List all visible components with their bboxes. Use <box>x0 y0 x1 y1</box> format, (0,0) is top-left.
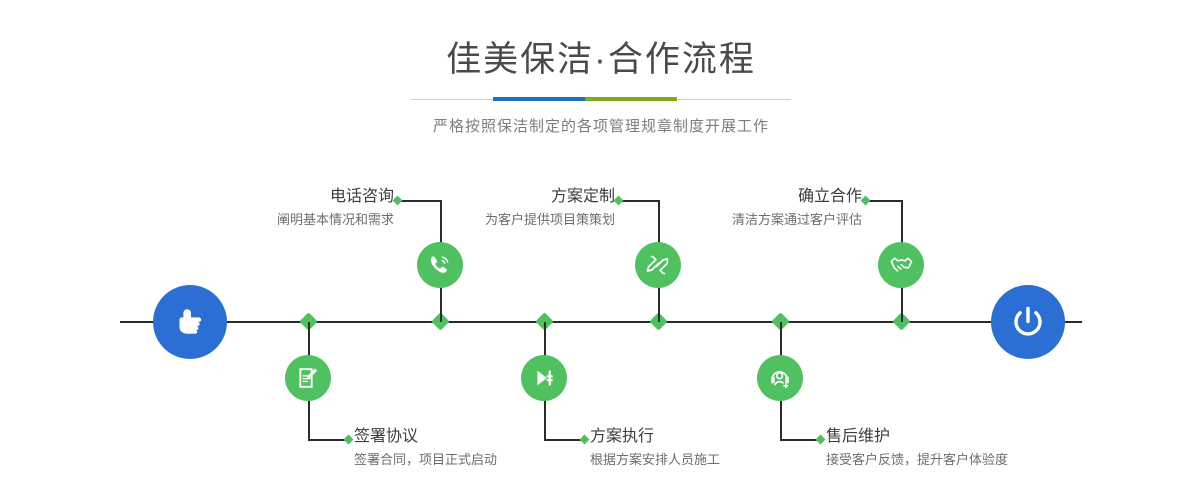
flow-step-icon-6[interactable] <box>757 355 803 401</box>
flow-step-label-6: 售后维护 接受客户反馈，提升客户体验度 <box>826 426 1086 470</box>
flow-step-label-3: 方案定制 为客户提供项目策策划 <box>375 186 615 230</box>
flow-step-icon-1[interactable] <box>417 242 463 288</box>
power-icon <box>1007 301 1049 343</box>
divider-segment-blue <box>493 97 585 101</box>
connector-elbow-step-4 <box>544 439 584 441</box>
flow-step-desc-2: 签署合同，项目正式启动 <box>354 450 604 470</box>
document-sign-icon <box>295 365 321 391</box>
connector-elbow-step-6 <box>780 439 820 441</box>
flow-step-desc-5: 清洁方案通过客户评估 <box>622 210 862 230</box>
flow-step-title-6: 售后维护 <box>826 426 1086 448</box>
flow-end-node[interactable] <box>991 285 1065 359</box>
page-header: 佳美保洁·合作流程 严格按照保洁制定的各项管理规章制度开展工作 <box>0 0 1202 136</box>
flow-diagram-page: 佳美保洁·合作流程 严格按照保洁制定的各项管理规章制度开展工作 <box>0 0 1202 502</box>
page-title: 佳美保洁·合作流程 <box>0 38 1202 82</box>
handshake-icon <box>888 252 915 279</box>
divider-segment-green <box>585 97 677 101</box>
title-divider <box>411 94 791 106</box>
flow-step-icon-5[interactable] <box>878 242 924 288</box>
flow-step-desc-3: 为客户提供项目策策划 <box>375 210 615 230</box>
flow-step-icon-4[interactable] <box>521 355 567 401</box>
label-marker-step-5 <box>861 196 871 206</box>
flow-step-desc-4: 根据方案安排人员施工 <box>590 450 840 470</box>
flow-step-label-2: 签署协议 签署合同，项目正式启动 <box>354 426 604 470</box>
connector-elbow-riser-step-5 <box>901 200 903 214</box>
flow-step-desc-1: 阐明基本情况和需求 <box>150 210 394 230</box>
connector-elbow-step-5 <box>866 200 903 202</box>
label-marker-step-2 <box>344 435 354 445</box>
flow-step-title-5: 确立合作 <box>622 186 862 208</box>
flow-step-title-4: 方案执行 <box>590 426 840 448</box>
page-subtitle: 严格按照保洁制定的各项管理规章制度开展工作 <box>0 115 1202 136</box>
flow-step-icon-2[interactable] <box>285 355 331 401</box>
flow-step-title-2: 签署协议 <box>354 426 604 448</box>
flow-step-label-1: 电话咨询 阐明基本情况和需求 <box>150 186 394 230</box>
customer-service-add-icon <box>767 365 793 391</box>
flow-step-title-3: 方案定制 <box>375 186 615 208</box>
flow-step-label-5: 确立合作 清洁方案通过客户评估 <box>622 186 862 230</box>
pencil-ruler-icon <box>645 252 671 278</box>
connector-elbow-step-2 <box>308 439 348 441</box>
pointing-hand-icon <box>170 302 210 342</box>
phone-call-icon <box>427 252 453 278</box>
flow-step-desc-6: 接受客户反馈，提升客户体验度 <box>826 450 1086 470</box>
play-execute-icon <box>531 365 557 391</box>
flow-step-label-4: 方案执行 根据方案安排人员施工 <box>590 426 840 470</box>
flow-step-icon-3[interactable] <box>635 242 681 288</box>
flow-step-title-1: 电话咨询 <box>150 186 394 208</box>
timeline-axis <box>120 321 1082 323</box>
flow-start-node[interactable] <box>153 285 227 359</box>
